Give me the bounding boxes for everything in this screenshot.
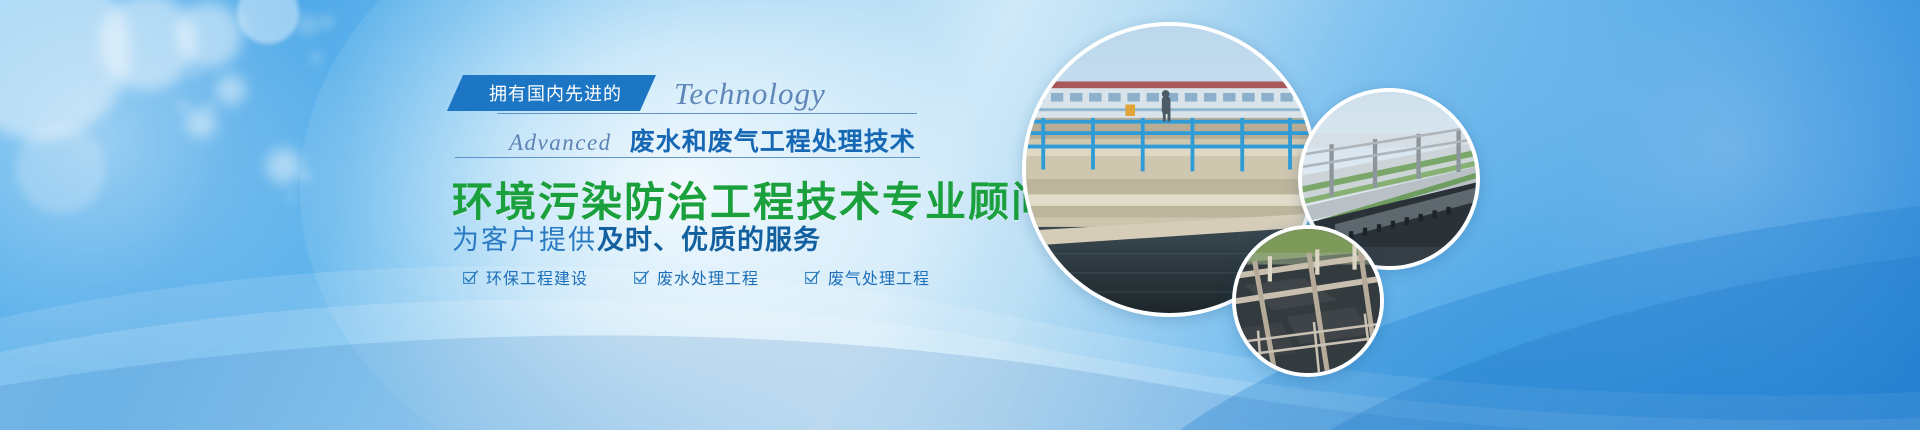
feature-label: 废气处理工程 [828,265,930,289]
tagline-chip: 拥有国内先进的 [447,75,656,111]
feature-label: 环保工程建设 [486,265,588,289]
feature-item[interactable]: 废气处理工程 [805,265,930,289]
subline-light-text: 为客户提供 [452,225,597,255]
check-icon [463,270,478,285]
banner-copy: 拥有国内先进的 Technology Advanced 废水和废气工程处理技术 … [0,0,1010,430]
check-icon [634,270,649,285]
promo-banner: 拥有国内先进的 Technology Advanced 废水和废气工程处理技术 … [0,0,1920,430]
subline: 为客户提供及时、优质的服务 [452,218,821,257]
feature-list: 环保工程建设 废水处理工程 废气处理工程 [463,265,930,289]
feature-label: 废水处理工程 [657,265,759,289]
divider-rule-bottom [455,157,920,158]
sedimentation-tank-walkway-photo [1232,225,1384,377]
divider-rule-top [497,113,917,114]
feature-item[interactable]: 环保工程建设 [463,265,588,289]
subtitle-chinese: 废水和废气工程处理技术 [630,122,916,158]
subtitle-row: Advanced 废水和废气工程处理技术 [509,122,916,158]
script-technology: Technology [674,78,826,109]
tagline-row: 拥有国内先进的 Technology [455,75,826,111]
script-advanced: Advanced [509,130,612,156]
feature-item[interactable]: 废水处理工程 [634,265,759,289]
subline-bold-text: 及时、优质的服务 [597,225,821,255]
tagline-text: 拥有国内先进的 [489,80,622,106]
check-icon [805,270,820,285]
